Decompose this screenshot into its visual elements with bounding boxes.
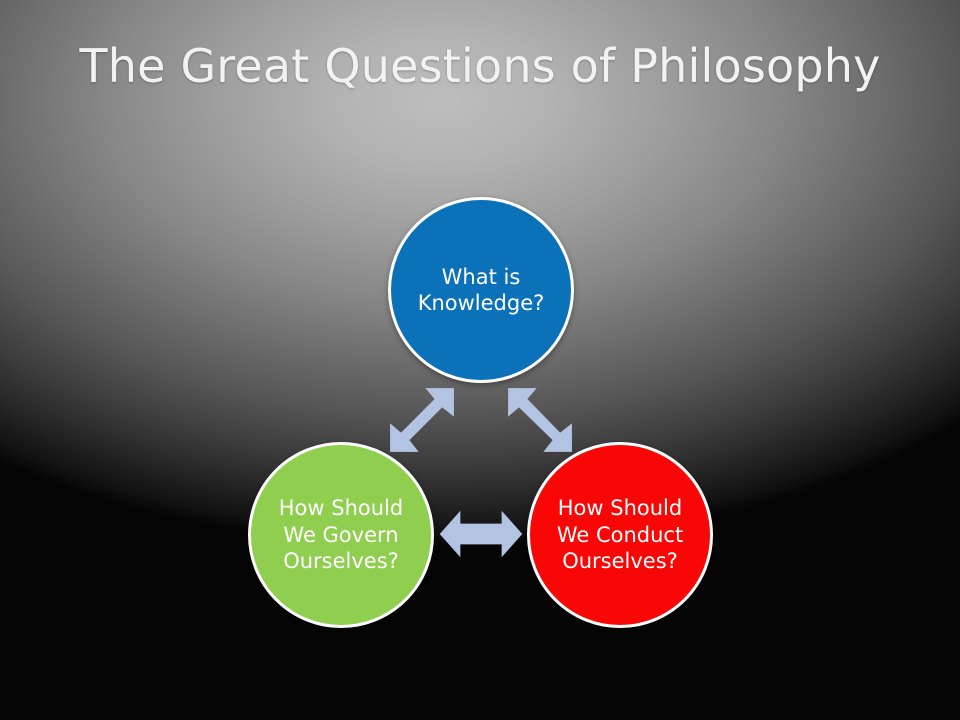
diagram-node-conduct[interactable]: How Should We Conduct Ourselves?: [527, 442, 713, 628]
diagram-node-conduct-label: How Should We Conduct Ourselves?: [544, 495, 696, 574]
diagram-node-govern-label: How Should We Govern Ourselves?: [265, 495, 417, 574]
diagram-node-govern[interactable]: How Should We Govern Ourselves?: [248, 442, 434, 628]
page-title: The Great Questions of Philosophy: [60, 36, 900, 97]
slide-canvas: The Great Questions of Philosophy What i…: [0, 0, 960, 720]
double-arrow-diagonal-up-left-icon: [498, 378, 582, 462]
double-arrow-horizontal-icon: [438, 505, 524, 563]
diagram-node-knowledge[interactable]: What is Knowledge?: [388, 197, 574, 383]
diagram-node-knowledge-label: What is Knowledge?: [405, 264, 557, 317]
double-arrow-diagonal-up-right-icon: [380, 378, 464, 462]
